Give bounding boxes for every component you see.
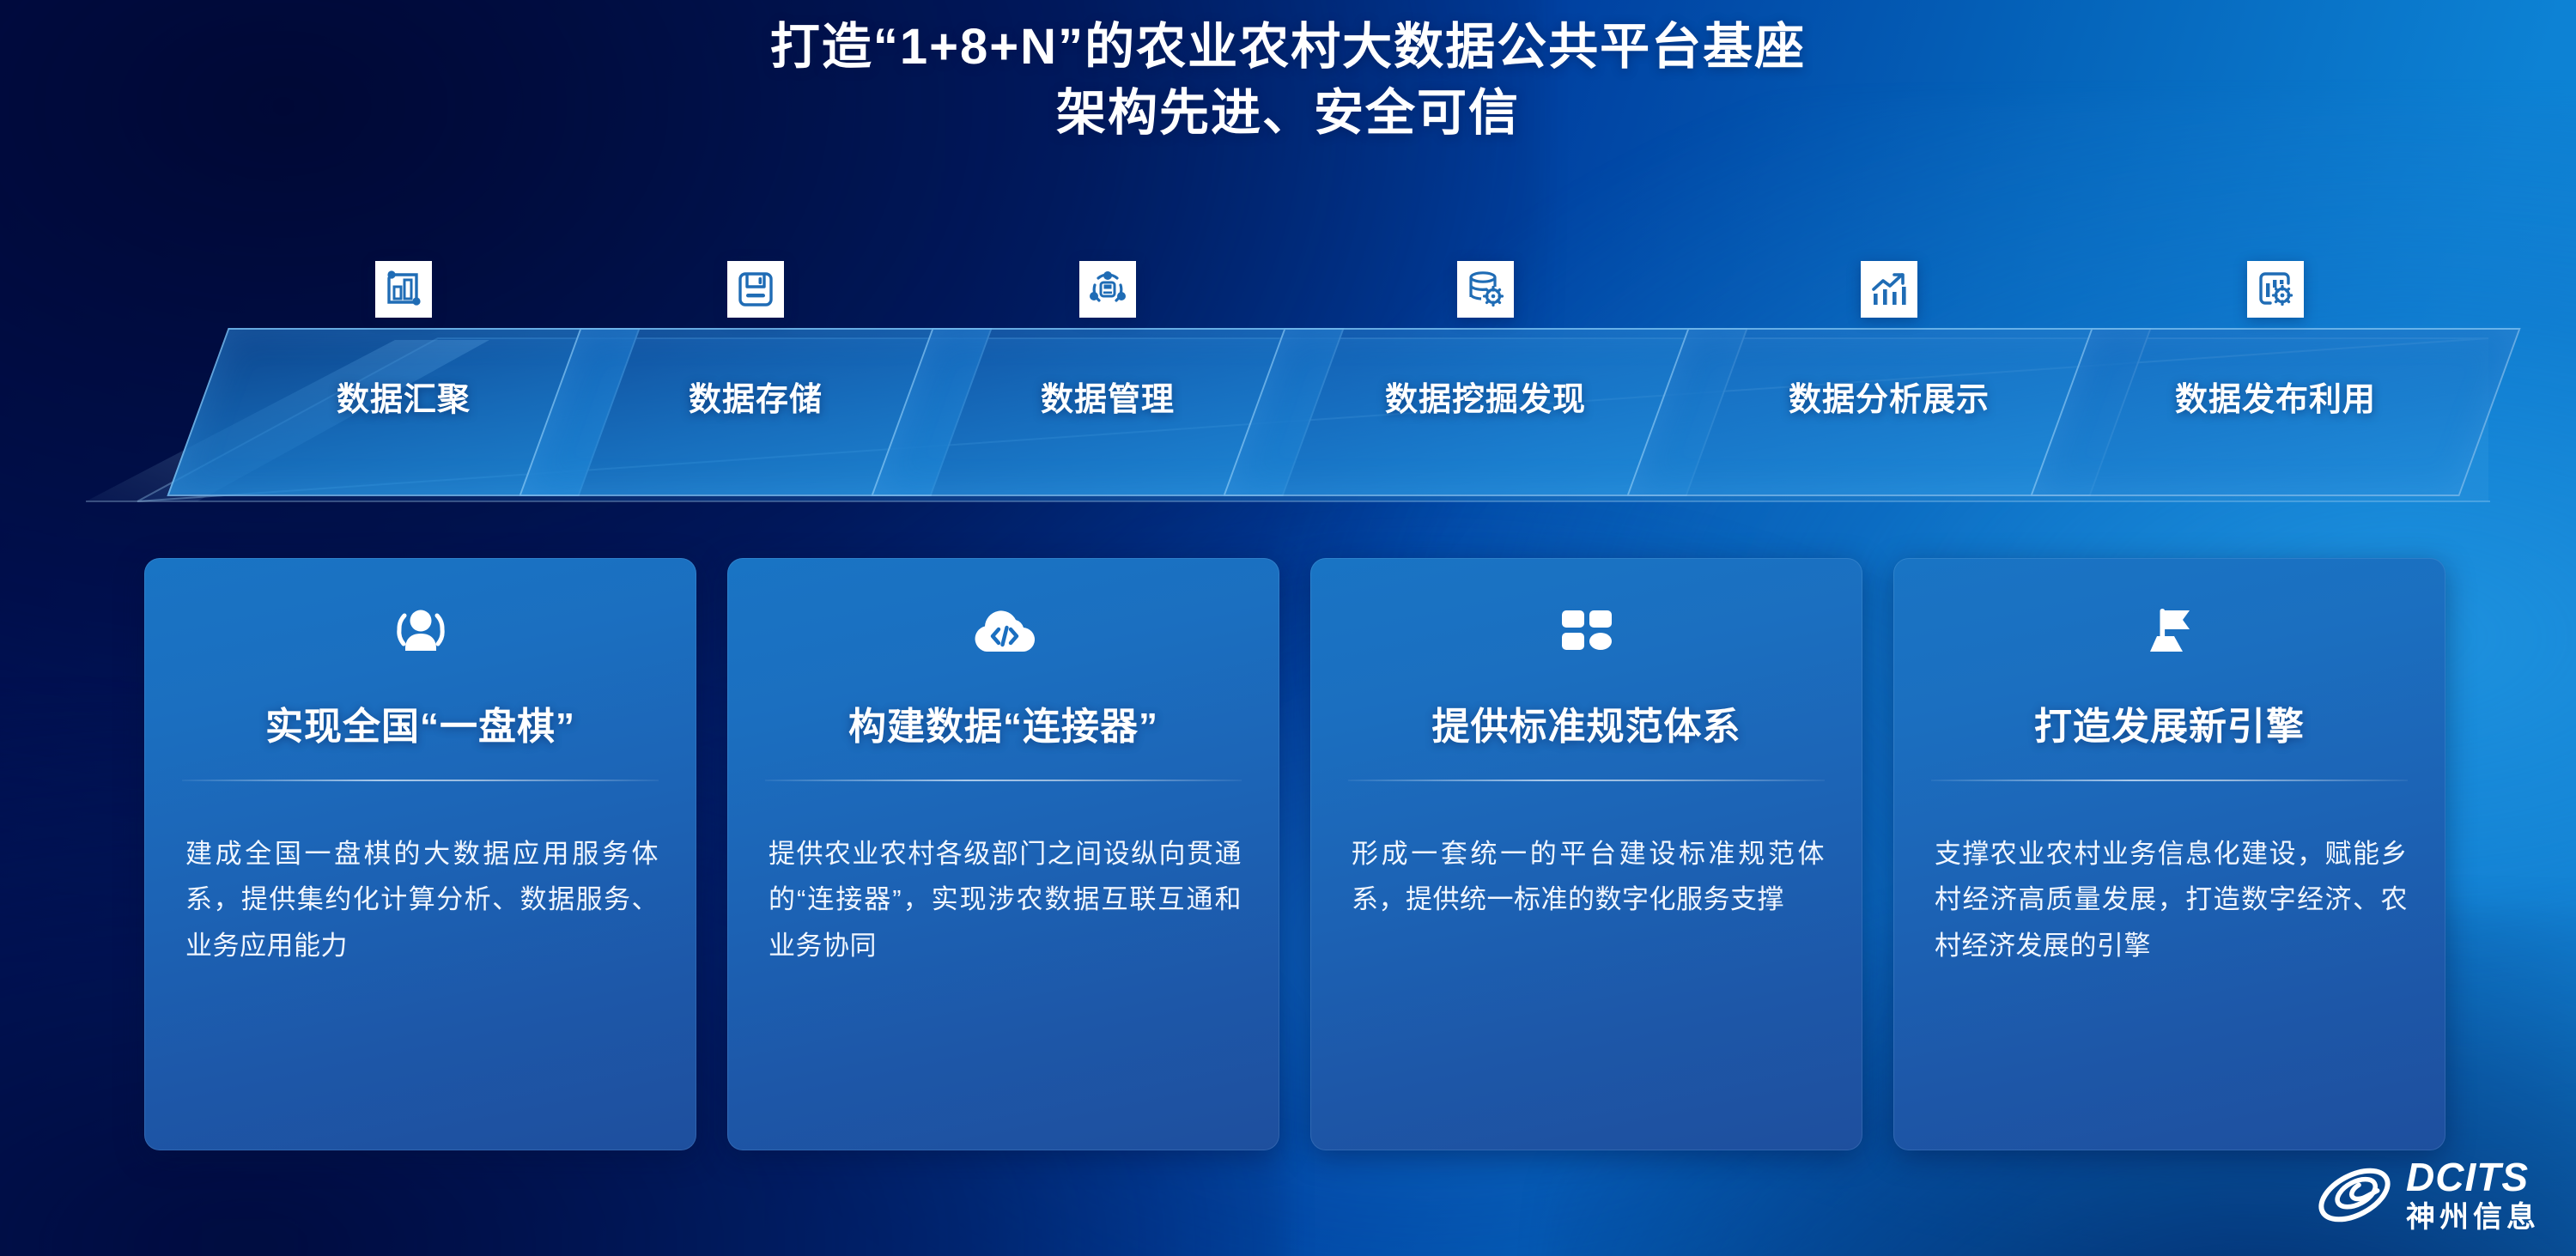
benefit-card-1[interactable]: 实现全国“一盘棋” 建成全国一盘棋的大数据应用服务体系，提供集约化计算分析、数据… xyxy=(144,558,696,1150)
dcits-swirl-icon xyxy=(2315,1159,2394,1231)
page-title: 打造“1+8+N”的农业农村大数据公共平台基座 架构先进、安全可信 xyxy=(0,14,2576,146)
cloud-code-icon xyxy=(964,599,1043,664)
users-group-icon xyxy=(381,599,460,664)
benefit-card-1-divider xyxy=(182,780,659,781)
benefit-card-3-title: 提供标准规范体系 xyxy=(1310,695,1862,750)
benefit-card-2-title: 构建数据“连接器” xyxy=(727,695,1279,750)
grid-blocks-icon xyxy=(1547,599,1626,664)
process-band: 数据汇聚 数据存储 xyxy=(86,283,2490,524)
company-logo-chinese: 神州信息 xyxy=(2406,1203,2540,1232)
benefit-card-3[interactable]: 提供标准规范体系 形成一套统一的平台建设标准规范体系，提供统一标准的数字化服务支… xyxy=(1310,558,1862,1150)
benefit-card-1-body: 建成全国一盘棋的大数据应用服务体系，提供集约化计算分析、数据服务、业务应用能力 xyxy=(185,831,659,968)
benefit-card-4-body: 支撑农业农村业务信息化建设，赋能乡村经济高质量发展，打造数字经济、农村经济发展的… xyxy=(1935,831,2408,968)
benefit-card-2-body: 提供农业农村各级部门之间设纵向贯通的“连接器”，实现涉农数据互联互通和业务协同 xyxy=(769,831,1242,968)
company-logo-wordmark: DCITS 神州信息 xyxy=(2406,1157,2540,1232)
database-gear-icon xyxy=(1457,261,1514,318)
process-stage-6-label: 数据发布利用 xyxy=(2061,373,2490,420)
benefit-card-4-title: 打造发展新引擎 xyxy=(1893,695,2445,750)
network-hub-icon xyxy=(1079,261,1136,318)
bar-chart-nodes-icon xyxy=(375,261,432,318)
benefit-card-2[interactable]: 构建数据“连接器” 提供农业农村各级部门之间设纵向贯通的“连接器”，实现涉农数据… xyxy=(727,558,1279,1150)
report-gear-icon xyxy=(2247,261,2304,318)
company-logo-english: DCITS xyxy=(2406,1157,2540,1197)
process-stage-5-label: 数据分析展示 xyxy=(1657,373,2121,420)
page-title-line-1: 打造“1+8+N”的农业农村大数据公共平台基座 xyxy=(0,14,2576,80)
benefit-card-3-body: 形成一套统一的平台建设标准规范体系，提供统一标准的数字化服务支撑 xyxy=(1352,831,1825,923)
floppy-disk-icon xyxy=(727,261,784,318)
benefit-card-2-divider xyxy=(765,780,1242,781)
company-logo: DCITS 神州信息 xyxy=(2315,1157,2540,1232)
process-stage-2-label: 数据存储 xyxy=(550,373,962,420)
benefit-card-4[interactable]: 打造发展新引擎 支撑农业农村业务信息化建设，赋能乡村经济高质量发展，打造数字经济… xyxy=(1893,558,2445,1150)
flag-hill-icon xyxy=(2130,599,2209,664)
benefit-card-3-divider xyxy=(1348,780,1825,781)
process-stage-6[interactable]: 数据发布利用 xyxy=(2061,328,2490,496)
benefit-card-list: 实现全国“一盘棋” 建成全国一盘棋的大数据应用服务体系，提供集约化计算分析、数据… xyxy=(144,558,2445,1150)
process-stage-1-label: 数据汇聚 xyxy=(197,373,610,420)
benefit-card-4-divider xyxy=(1931,780,2408,781)
growth-chart-icon xyxy=(1861,261,1917,318)
process-stage-4-label: 数据挖掘发现 xyxy=(1254,373,1717,420)
process-stage-3-label: 数据管理 xyxy=(902,373,1314,420)
page-title-line-2: 架构先进、安全可信 xyxy=(0,80,2576,146)
benefit-card-1-title: 实现全国“一盘棋” xyxy=(144,695,696,750)
